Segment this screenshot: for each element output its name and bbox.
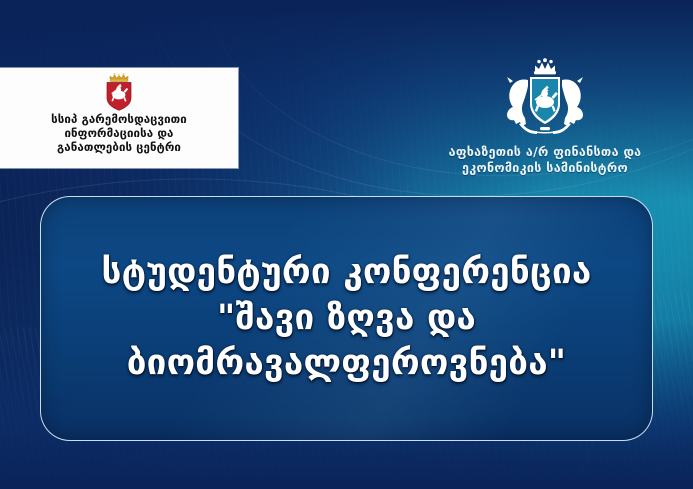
conference-announcement-poster: სსიპ გარემოსდაცვითი ინფორმაციისა და განა… — [0, 0, 693, 489]
environmental-center-caption: სსიპ გარემოსდაცვითი ინფორმაციისა და განა… — [12, 112, 227, 154]
ministry-caption: აფხაზეთის ა/რ ფინანსთა და ეკონომიკის სამ… — [449, 144, 642, 176]
conference-title: სტუდენტური კონფერენცია "შავი ზღვა და ბიო… — [85, 250, 607, 387]
caption-line: აფხაზეთის ა/რ ფინანსთა და — [449, 144, 642, 160]
ministry-block: აფხაზეთის ა/რ ფინანსთა და ეკონომიკის სამ… — [400, 58, 690, 176]
georgian-coat-of-arms-shield-icon — [102, 71, 136, 111]
caption-line: ეკონომიკის სამინისტრო — [449, 160, 642, 176]
title-panel: სტუდენტური კონფერენცია "შავი ზღვა და ბიო… — [40, 196, 653, 441]
caption-line: ინფორმაციისა და — [12, 126, 227, 140]
caption-line: განათლების ცენტრი — [12, 140, 227, 154]
caption-line: სსიპ გარემოსდაცვითი — [12, 112, 227, 126]
environmental-center-logo-plate: სსიპ გარემოსდაცვითი ინფორმაციისა და განა… — [0, 68, 238, 168]
georgian-state-coat-of-arms-icon — [491, 58, 599, 140]
